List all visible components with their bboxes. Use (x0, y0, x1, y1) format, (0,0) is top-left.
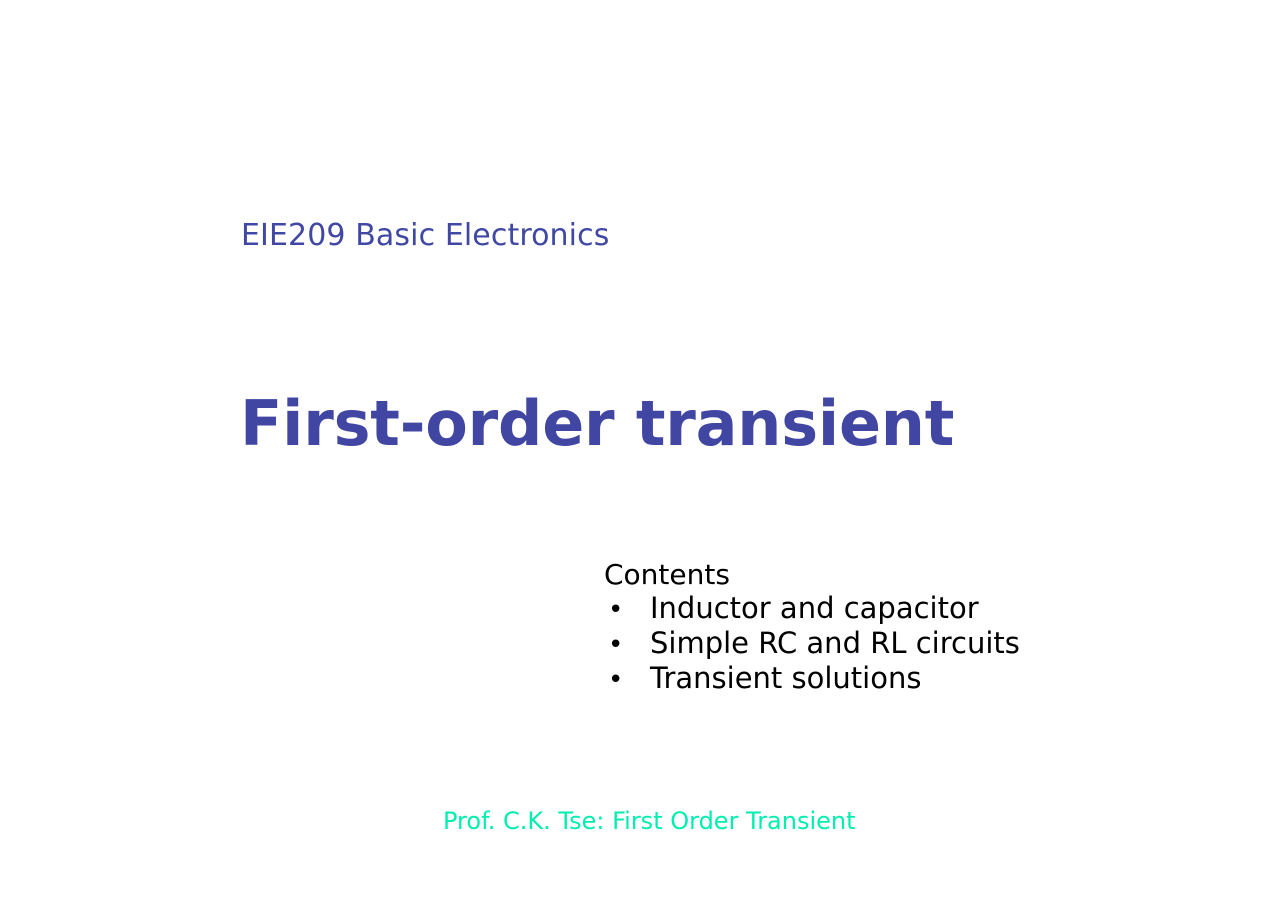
list-item-label: Transient solutions (650, 662, 921, 695)
list-item: • Simple RC and RL circuits (604, 627, 1034, 662)
course-subtitle: EIE209 Basic Electronics (241, 217, 609, 255)
contents-list: • Inductor and capacitor • Simple RC and… (604, 592, 1034, 697)
bullet-icon: • (604, 629, 650, 662)
presentation-slide: EIE209 Basic Electronics First-order tra… (0, 0, 1280, 905)
list-item: • Transient solutions (604, 662, 1034, 697)
slide-title: First-order transient (240, 386, 954, 462)
bullet-icon: • (604, 594, 650, 627)
list-item-label: Inductor and capacitor (650, 592, 979, 625)
contents-block: Contents • Inductor and capacitor • Simp… (604, 558, 1034, 697)
bullet-icon: • (604, 664, 650, 697)
list-item-label: Simple RC and RL circuits (650, 627, 1020, 660)
contents-heading: Contents (604, 558, 1034, 592)
footer-credit: Prof. C.K. Tse: First Order Transient (443, 806, 856, 836)
list-item: • Inductor and capacitor (604, 592, 1034, 627)
